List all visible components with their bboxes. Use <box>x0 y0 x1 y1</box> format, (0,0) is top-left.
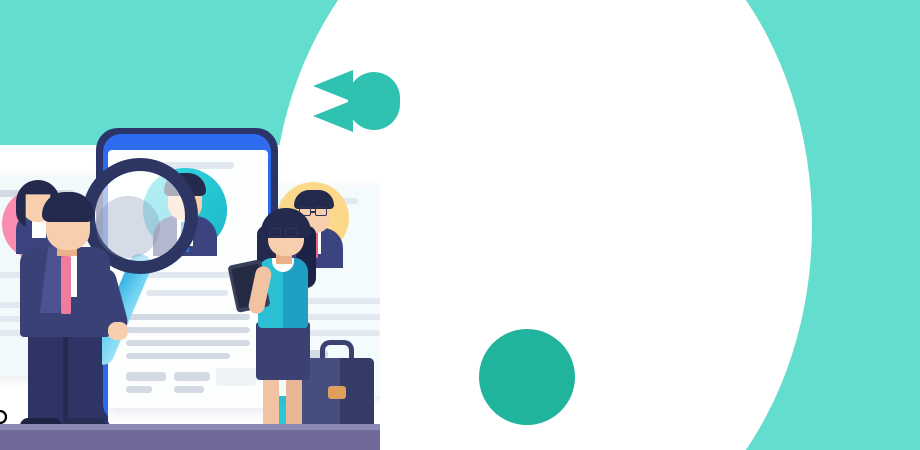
briefcase-lock <box>328 386 346 399</box>
magnifier-glare <box>96 196 160 258</box>
glasses-icon <box>269 228 281 237</box>
glasses-bridge <box>311 211 315 213</box>
businessman-leg-split <box>63 330 68 422</box>
floor <box>0 430 380 450</box>
ribbon-tail-bottom <box>313 100 353 132</box>
businessman-hand <box>108 322 128 340</box>
glasses-icon <box>285 228 297 237</box>
recruitment-illustration <box>0 0 380 450</box>
recruitment-banner <box>0 0 920 450</box>
ribbon-label <box>348 72 400 130</box>
glasses-icon <box>315 207 327 216</box>
businesswoman-skirt <box>256 322 310 380</box>
businessman-tie <box>61 256 71 314</box>
ribbon-tail-top <box>313 70 353 102</box>
points-number-badge <box>479 329 575 425</box>
